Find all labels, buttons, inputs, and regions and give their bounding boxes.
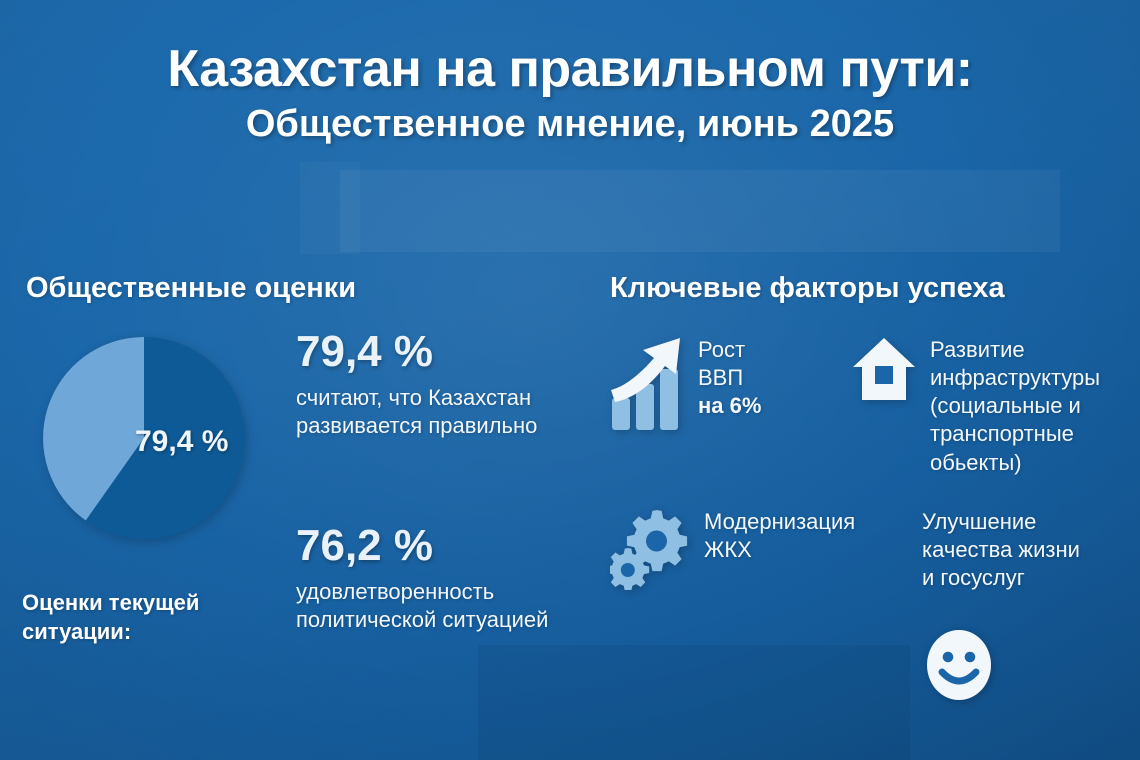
gears-icon — [610, 508, 690, 590]
factor-label-line: Рост — [698, 336, 761, 364]
section-header-public-assessment: Общественные оценки — [26, 272, 356, 305]
factor-label: Модернизация ЖКХ — [704, 508, 855, 564]
factor-label: Развитие инфраструктуры (социальные и тр… — [930, 336, 1100, 477]
factor-label-line: ЖКХ — [704, 536, 855, 564]
pie-chart: 79,4 % — [43, 337, 245, 539]
stat-block-satisfaction: 76,2 % удовлетворенность политической си… — [296, 524, 606, 635]
title-line-1: Казахстан на правильном пути: — [0, 42, 1140, 97]
factor-label-line: ВВП — [698, 364, 761, 392]
factor-utilities-modernisation: Модернизация ЖКХ — [610, 508, 855, 590]
factor-label-line: транспортные — [930, 420, 1100, 448]
title-line-2: Общественное мнение, июнь 2025 — [0, 103, 1140, 147]
factor-label: Улучшение качества жизни и госуслуг — [922, 508, 1080, 592]
factor-gdp-growth: Рост ВВП на 6% — [610, 336, 761, 432]
factor-label-line: качества жизни — [922, 536, 1080, 564]
factor-label-line: (социальные и — [930, 392, 1100, 420]
background-band-top — [340, 170, 1060, 252]
smiley-icon — [924, 628, 994, 702]
stat-description: удовлетворенность политической ситуацией — [296, 578, 606, 635]
background-band-bottom — [478, 645, 910, 760]
growth-chart-icon — [610, 336, 684, 432]
factor-infrastructure: Развитие инфраструктуры (социальные и тр… — [852, 336, 1100, 477]
factor-label-line: Модернизация — [704, 508, 855, 536]
factor-quality-of-life: Улучшение качества жизни и госуслуг — [922, 508, 1080, 592]
stat-value: 76,2 % — [296, 524, 606, 569]
factor-label-line: Улучшение — [922, 508, 1080, 536]
factor-label-line: обьекты) — [930, 449, 1100, 477]
stat-value: 79,4 % — [296, 330, 606, 375]
stat-block-development: 79,4 % считают, что Казахстан развиваетс… — [296, 330, 606, 441]
section-header-success-factors: Ключевые факторы успеха — [610, 272, 1005, 305]
stat-description: считают, что Казахстан развивается прави… — [296, 384, 606, 441]
factor-label-line: инфраструктуры — [930, 364, 1100, 392]
factor-label-line: и госуслуг — [922, 564, 1080, 592]
house-icon — [852, 336, 916, 406]
pie-center-label: 79,4 % — [135, 425, 228, 459]
factor-label: Рост ВВП на 6% — [698, 336, 761, 420]
background-band-accent — [300, 162, 360, 254]
pie-caption: Оценки текущей ситуации: — [22, 588, 272, 647]
page-title: Казахстан на правильном пути: Общественн… — [0, 42, 1140, 147]
factor-label-line: на 6% — [698, 392, 761, 420]
infographic-canvas: Казахстан на правильном пути: Общественн… — [0, 0, 1140, 760]
factor-label-line: Развитие — [930, 336, 1100, 364]
